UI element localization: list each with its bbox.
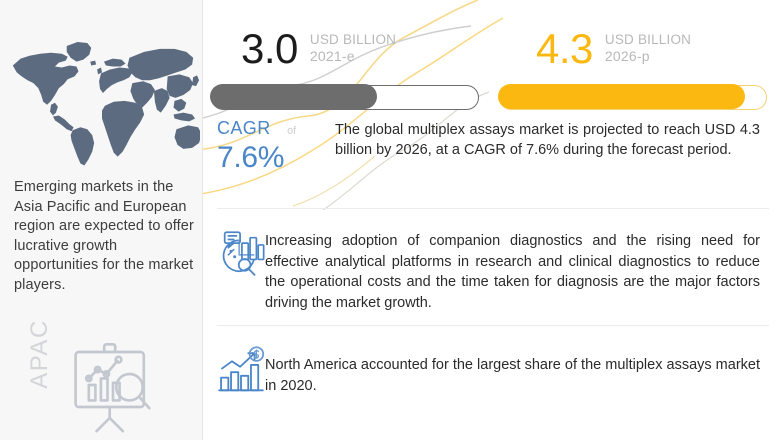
section-divider-1: [217, 208, 769, 209]
stat-value-2026: 4.3: [536, 28, 593, 70]
left-panel-description: Emerging markets in the Asia Pacific and…: [14, 178, 194, 295]
market-size-2021-bar: [211, 85, 479, 110]
cagr-value: 7.6%: [217, 141, 342, 175]
stat-headline-2021: 3.0 USD BILLION 2021-e: [241, 28, 396, 70]
market-size-2026-bar: [499, 85, 767, 110]
stat-value-2021: 3.0: [241, 28, 298, 70]
stat-unit-label-2021: USD BILLION: [310, 32, 396, 47]
stat-headline-2026: 4.3 USD BILLION 2026-p: [536, 28, 691, 70]
analytics-report-icon: [212, 225, 270, 283]
stats-row: 3.0 USD BILLION 2021-e 4.3 USD BILLION 2…: [203, 0, 780, 120]
stat-card-2026: 4.3 USD BILLION 2026-p: [491, 0, 779, 120]
stat-unit-2021: USD BILLION 2021-e: [310, 31, 396, 65]
intro-paragraph: The global multiplex assays market is pr…: [335, 120, 760, 160]
growth-bar-chart-dollar-icon: [212, 345, 270, 403]
bullet-text-1: Increasing adoption of companion diagnos…: [265, 231, 760, 313]
world-map-icon: [4, 18, 200, 166]
cagr-block: CAGR of 7.6%: [217, 118, 342, 175]
cagr-label: CAGR: [217, 118, 271, 139]
main-content: 3.0 USD BILLION 2021-e 4.3 USD BILLION 2…: [203, 0, 780, 440]
region-label-apac: APAC: [26, 309, 54, 399]
market-size-2026-bar-fill: [498, 84, 745, 109]
stat-card-2021: 3.0 USD BILLION 2021-e: [203, 0, 491, 120]
bullet-row-1: Increasing adoption of companion diagnos…: [203, 225, 780, 320]
bullet-text-2: North America accounted for the largest …: [265, 355, 760, 396]
stat-year-2026: 2026-p: [605, 48, 691, 65]
stat-unit-label-2026: USD BILLION: [605, 32, 691, 47]
market-size-2021-bar-fill: [210, 84, 376, 109]
stat-unit-2026: USD BILLION 2026-p: [605, 31, 691, 65]
section-divider-2: [217, 325, 769, 326]
cagr-connector: of: [287, 125, 296, 137]
presentation-chart-magnifier-icon: [58, 330, 168, 440]
cagr-band: CAGR of 7.6% The global multiplex assays…: [203, 118, 780, 198]
infographic-root: Emerging markets in the Asia Pacific and…: [0, 0, 780, 440]
stat-year-2021: 2021-e: [310, 48, 396, 65]
bullet-row-2: North America accounted for the largest …: [203, 345, 780, 425]
left-panel: Emerging markets in the Asia Pacific and…: [0, 0, 203, 440]
